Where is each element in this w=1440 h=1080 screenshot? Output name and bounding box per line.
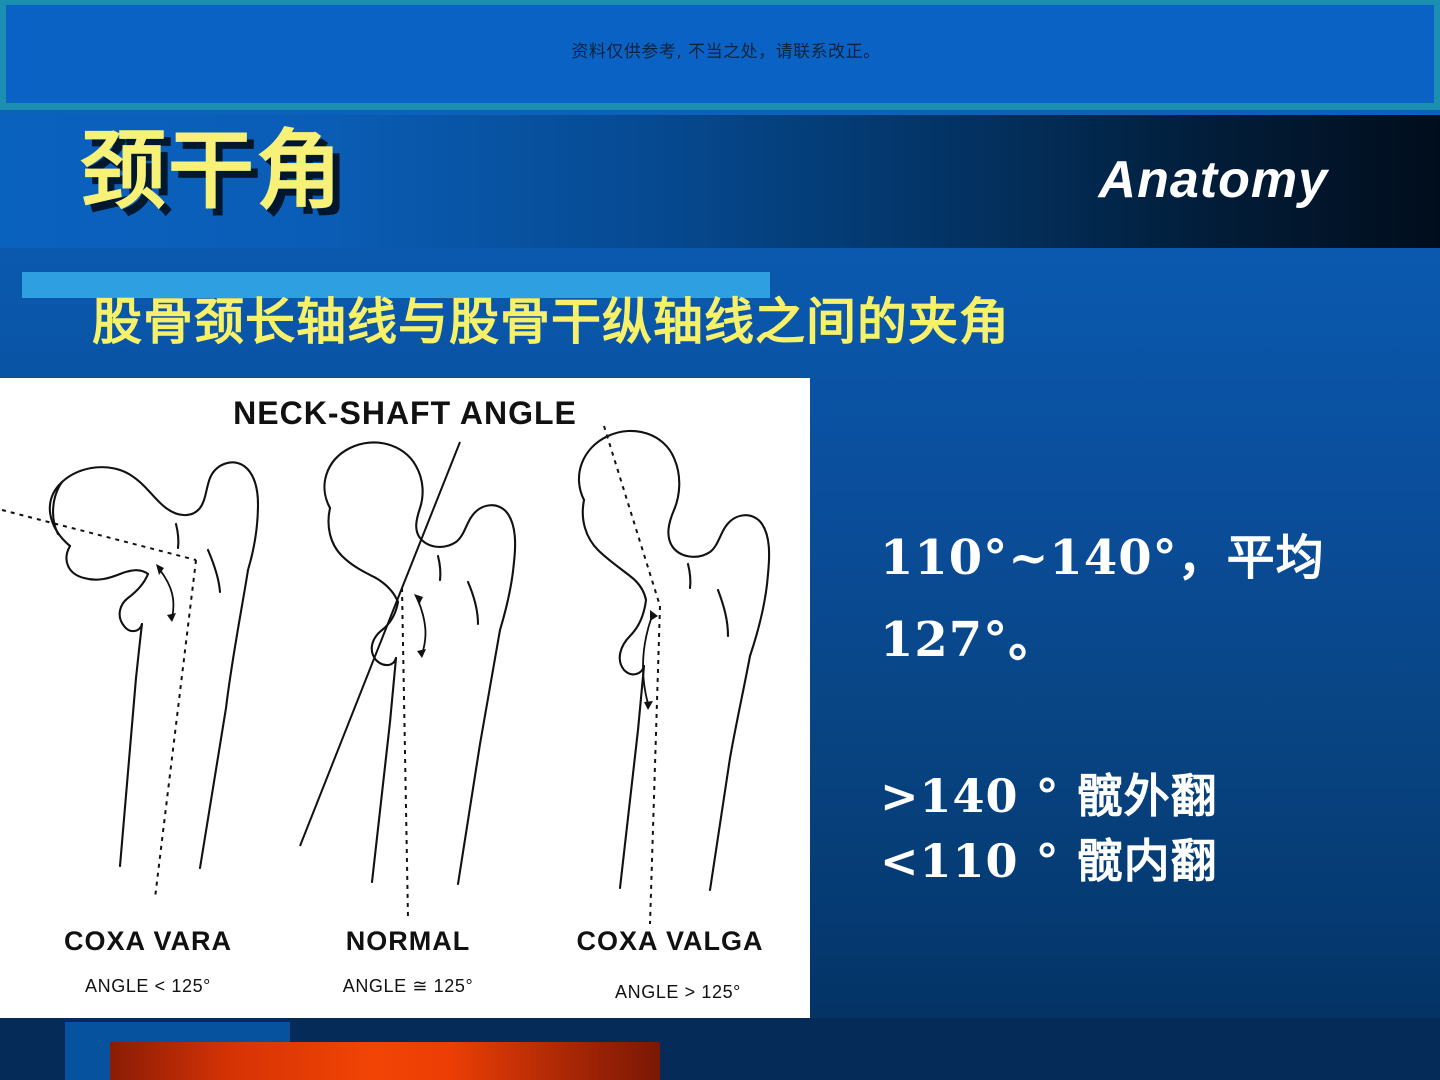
panel-note-coxa-valga: ANGLE > 125° [615,982,741,1002]
range-line-1: 110°~140°，平均 [880,518,1400,600]
page-title: 颈干角 [80,128,344,214]
neck-shaft-angle-range: 110°~140°，平均 127°。 [880,518,1400,681]
neck-shaft-angle-figure: NECK-SHAFT ANGLE [0,378,810,1026]
section-label: Anatomy [1099,150,1328,210]
panel-label-normal: NORMAL [346,926,470,956]
figure-title: NECK-SHAFT ANGLE [233,395,577,431]
panel-note-coxa-vara: ANGLE < 125° [85,976,211,996]
coxa-valga-threshold: >140 ° 髋外翻 [880,765,1218,827]
footer-orange-accent [110,1042,660,1080]
notice-band: 资料仅供参考, 不当之处，请联系改正。 [0,0,1440,110]
notice-text: 资料仅供参考, 不当之处，请联系改正。 [6,37,1440,62]
range-line-2: 127°。 [880,600,1400,682]
subtitle-text: 股骨颈长轴线与股骨干纵轴线之间的夹角 [92,282,1010,354]
panel-label-coxa-vara: COXA VARA [64,926,232,956]
panel-note-normal: ANGLE ≅ 125° [343,976,474,996]
coxa-vara-threshold: <110 ° 髋内翻 [880,830,1218,892]
panel-label-coxa-valga: COXA VALGA [576,926,763,956]
slide-canvas: 资料仅供参考, 不当之处，请联系改正。 颈干角 Anatomy 股骨颈长轴线与股… [0,0,1440,1080]
